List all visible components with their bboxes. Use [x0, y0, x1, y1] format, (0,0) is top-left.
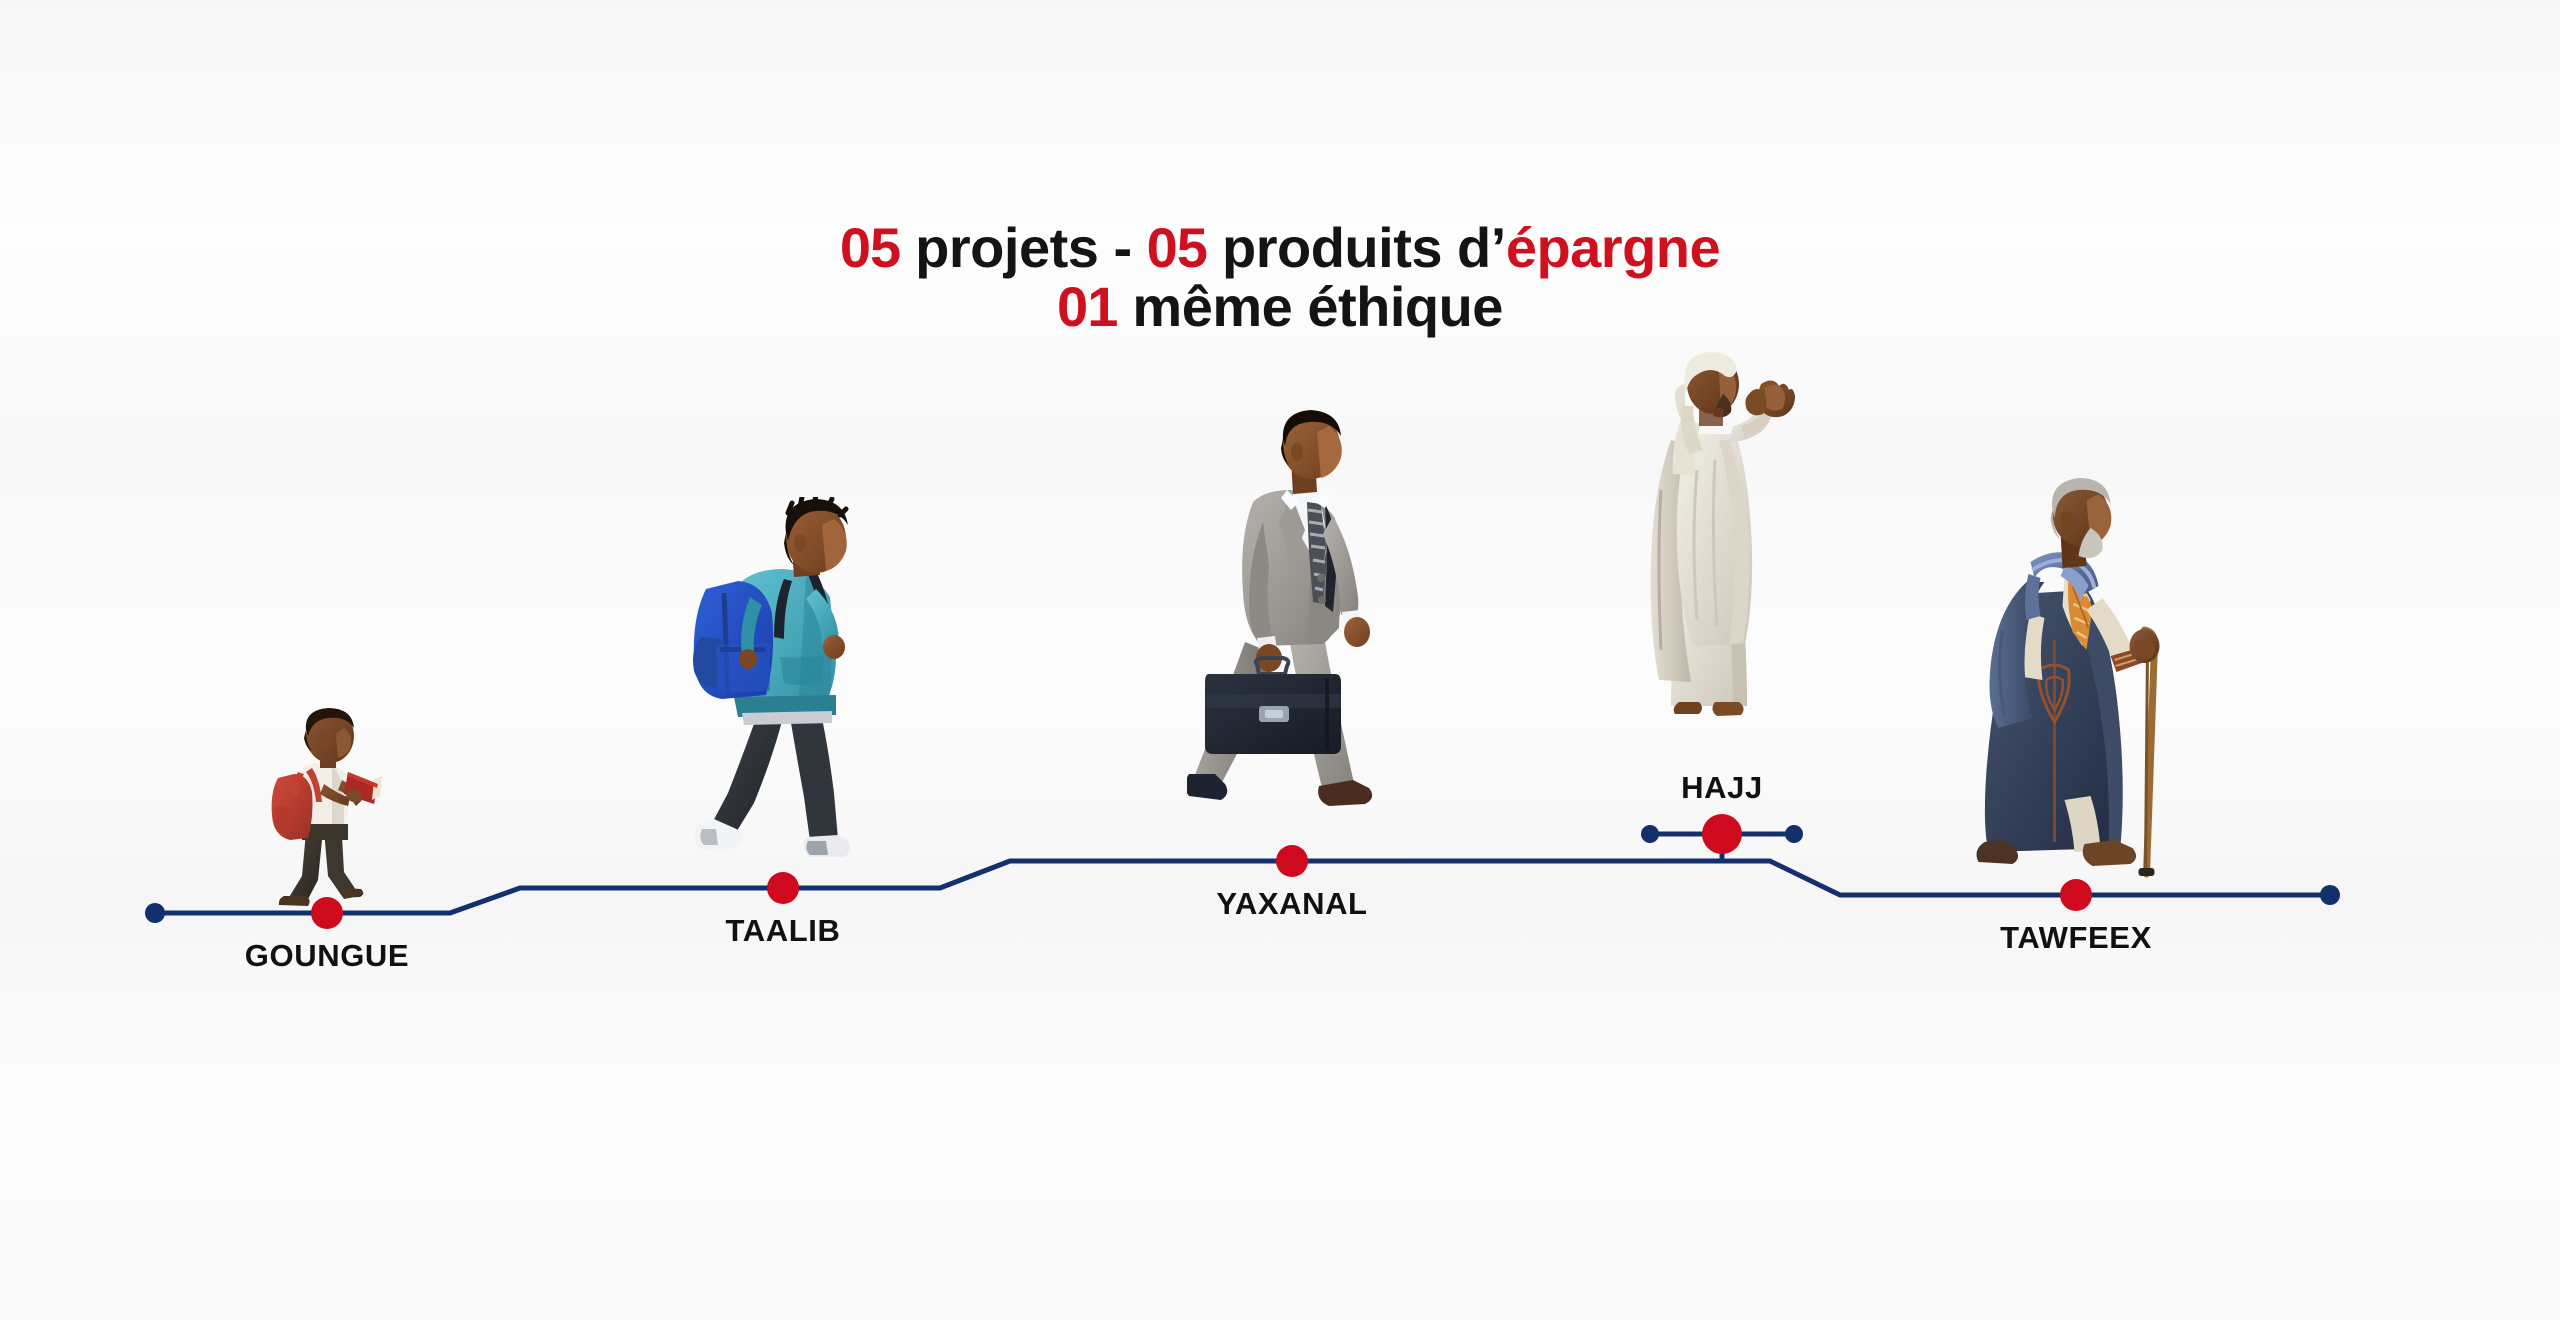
marker-tawfeex[interactable]	[2060, 879, 2092, 911]
title-text-ethique: même éthique	[1117, 275, 1503, 338]
figure-child-reading-book	[262, 700, 392, 915]
title-text-produits: produits d’	[1207, 216, 1506, 279]
figure-businessman-briefcase	[1187, 406, 1397, 861]
title-number-05-a: 05	[840, 216, 900, 279]
marker-goungue[interactable]	[311, 897, 343, 929]
figure-teen-with-backpack	[688, 497, 878, 890]
businessman-briefcase-illustration	[1187, 406, 1397, 861]
hajj-bar-left-dot	[1641, 825, 1659, 843]
timeline-graphic	[0, 0, 2560, 1320]
title-line-1: 05 projets - 05 produits d’épargne	[0, 218, 2560, 277]
figure-pilgrim-praying	[1637, 350, 1807, 750]
stage-label-taalib: TAALIB	[726, 913, 841, 949]
stage-label-goungue: GOUNGUE	[245, 938, 409, 974]
child-reading-book-illustration	[262, 700, 392, 915]
page-title: 05 projets - 05 produits d’épargne 01 mê…	[0, 218, 2560, 337]
hajj-bar-right-dot	[1785, 825, 1803, 843]
title-text-projets: projets -	[900, 216, 1147, 279]
stage-label-hajj: HAJJ	[1681, 770, 1763, 806]
title-number-05-b: 05	[1147, 216, 1207, 279]
marker-taalib[interactable]	[767, 872, 799, 904]
title-number-01: 01	[1057, 275, 1117, 338]
title-accent-epargne: épargne	[1506, 216, 1720, 279]
stage-label-yaxanal: YAXANAL	[1216, 886, 1367, 922]
timeline-start-dot	[145, 903, 165, 923]
timeline-end-dot	[2320, 885, 2340, 905]
figure-elder-with-cane	[1969, 470, 2184, 895]
marker-yaxanal[interactable]	[1276, 845, 1308, 877]
marker-hajj[interactable]	[1702, 814, 1742, 854]
teen-with-backpack-illustration	[688, 497, 878, 890]
infographic-canvas: 05 projets - 05 produits d’épargne 01 mê…	[0, 0, 2560, 1320]
title-line-2: 01 même éthique	[0, 277, 2560, 336]
stage-label-tawfeex: TAWFEEX	[2000, 920, 2152, 956]
elder-with-cane-illustration	[1969, 470, 2184, 895]
pilgrim-praying-illustration	[1637, 350, 1807, 750]
